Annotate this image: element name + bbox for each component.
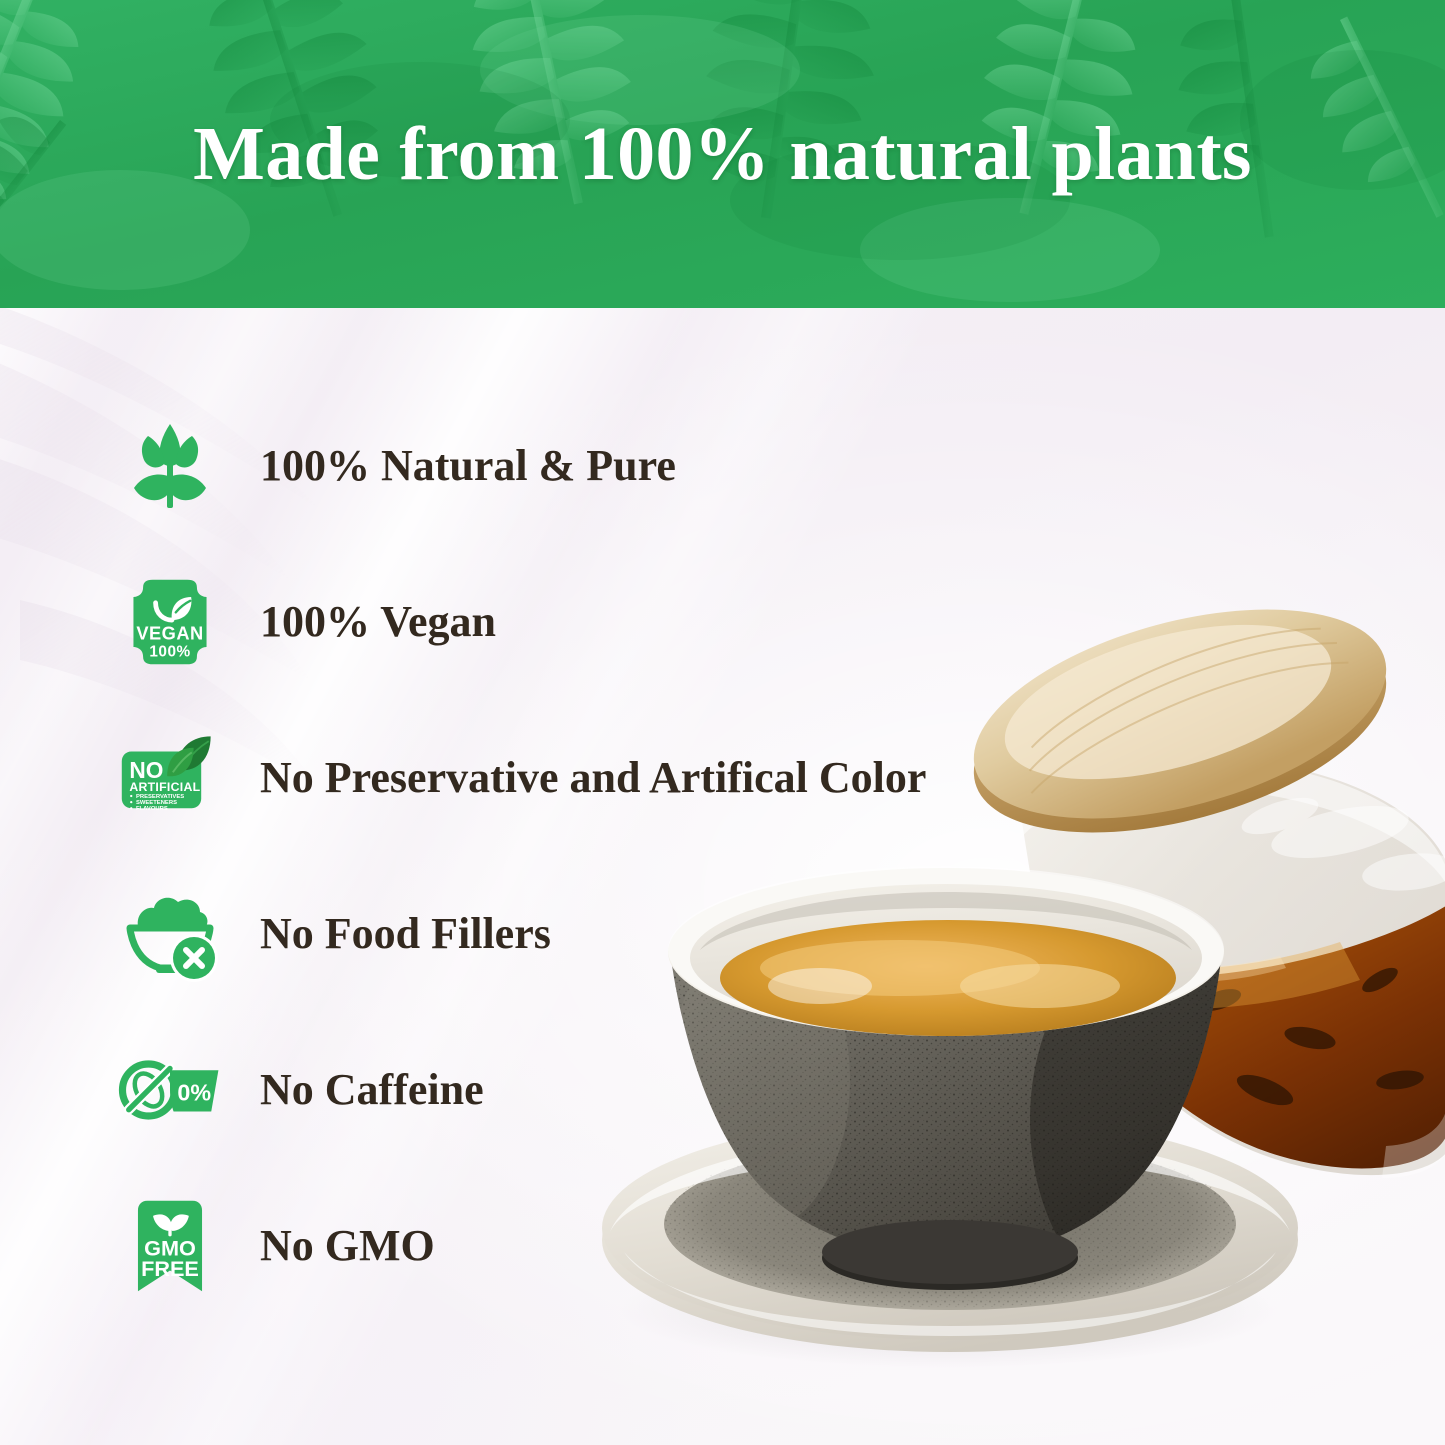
gmo-free-badge-icon: GMO FREE [118,1194,222,1298]
feature-label: No GMO [260,1223,435,1269]
feature-row: GMO FREE No GMO [118,1168,1068,1324]
feature-row: No Food Fillers [118,856,1068,1012]
free-text: FREE [141,1256,199,1281]
bullet-preservatives: PRESERVATIVES [136,794,184,800]
feature-label: No Caffeine [260,1067,484,1113]
feature-row: NO ARTIFICIAL PRESERVATIVES SWEETENERS F… [118,700,1068,856]
no-artificial-badge-icon: NO ARTIFICIAL PRESERVATIVES SWEETENERS F… [118,726,222,830]
artificial-text: ARTIFICIAL [129,780,200,794]
no-text: NO [129,757,163,783]
poster-root: Made from 100% natural plants [0,0,1445,1445]
feature-list: 100% Natural & Pure VEGAN 100% 100% [118,388,1068,1324]
vegan-text: VEGAN [136,622,203,643]
feature-label: No Food Fillers [260,911,551,957]
bullet-sweeteners: SWEETENERS [136,800,177,806]
no-caffeine-icon: 0% [118,1038,222,1142]
feature-label: 100% Natural & Pure [260,443,676,489]
zero-percent-text: 0% [177,1080,211,1106]
page-title: Made from 100% natural plants [0,0,1445,308]
vegan-badge-icon: VEGAN 100% [118,570,222,674]
plant-sprout-icon [118,414,222,518]
no-food-fillers-icon [118,882,222,986]
header-banner: Made from 100% natural plants [0,0,1445,308]
feature-row: 100% Natural & Pure [118,388,1068,544]
feature-row: 0% No Caffeine [118,1012,1068,1168]
feature-label: 100% Vegan [260,599,496,645]
feature-label: No Preservative and Artifical Color [260,755,926,801]
feature-row: VEGAN 100% 100% Vegan [118,544,1068,700]
vegan-percent-text: 100% [149,644,190,661]
bullet-flavours: FLAVOURS [136,806,168,812]
